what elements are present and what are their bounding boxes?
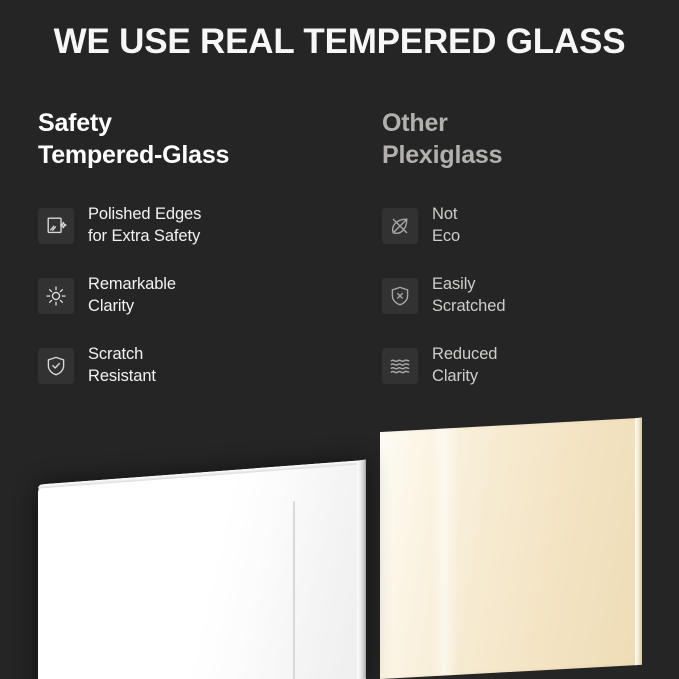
tempered-glass-comparison-infographic: WE USE REAL TEMPERED GLASS Safety Temper… xyxy=(0,0,679,679)
column-title-safety-tempered-glass: Safety Tempered-Glass xyxy=(38,108,372,172)
feature-scratch-resistant: Scratch Resistant xyxy=(38,338,372,394)
feature-label-remarkable-clarity: Remarkable Clarity xyxy=(88,274,176,317)
column-title-other-plexiglass: Other Plexiglass xyxy=(382,108,679,172)
leaf-crossed-out-icon xyxy=(382,208,418,244)
tempered-glass-panel-edge xyxy=(357,459,366,679)
clarity-sun-icon xyxy=(38,278,74,314)
column-safety-tempered-glass: Safety Tempered-Glass Polished Edges for… xyxy=(0,108,372,394)
polished-edges-icon xyxy=(38,208,74,244)
shield-x-icon xyxy=(382,278,418,314)
wavy-lines-icon xyxy=(382,348,418,384)
feature-polished-edges: Polished Edges for Extra Safety xyxy=(38,198,372,254)
tempered-glass-panel xyxy=(38,460,366,679)
feature-remarkable-clarity: Remarkable Clarity xyxy=(38,268,372,324)
feature-label-scratch-resistant: Scratch Resistant xyxy=(88,344,156,387)
tempered-glass-bevel xyxy=(38,461,357,489)
column-other-plexiglass: Other Plexiglass Not Eco xyxy=(372,108,679,394)
yellowed-plexiglass-panel xyxy=(380,418,642,679)
feature-label-easily-scratched: Easily Scratched xyxy=(432,274,505,317)
page-title: WE USE REAL TEMPERED GLASS xyxy=(0,22,679,62)
product-photo xyxy=(0,398,679,679)
feature-reduced-clarity: Reduced Clarity xyxy=(382,338,679,394)
feature-not-eco: Not Eco xyxy=(382,198,679,254)
plexiglass-panel-edge xyxy=(635,417,642,665)
feature-list-safety-tempered-glass: Polished Edges for Extra Safety xyxy=(38,198,372,394)
feature-label-not-eco: Not Eco xyxy=(432,204,460,247)
feature-label-reduced-clarity: Reduced Clarity xyxy=(432,344,497,387)
feature-label-polished-edges: Polished Edges for Extra Safety xyxy=(88,204,201,247)
feature-list-other-plexiglass: Not Eco Easily Scratched xyxy=(382,198,679,394)
comparison-columns: Safety Tempered-Glass Polished Edges for… xyxy=(0,108,679,394)
shield-check-icon xyxy=(38,348,74,384)
feature-easily-scratched: Easily Scratched xyxy=(382,268,679,324)
